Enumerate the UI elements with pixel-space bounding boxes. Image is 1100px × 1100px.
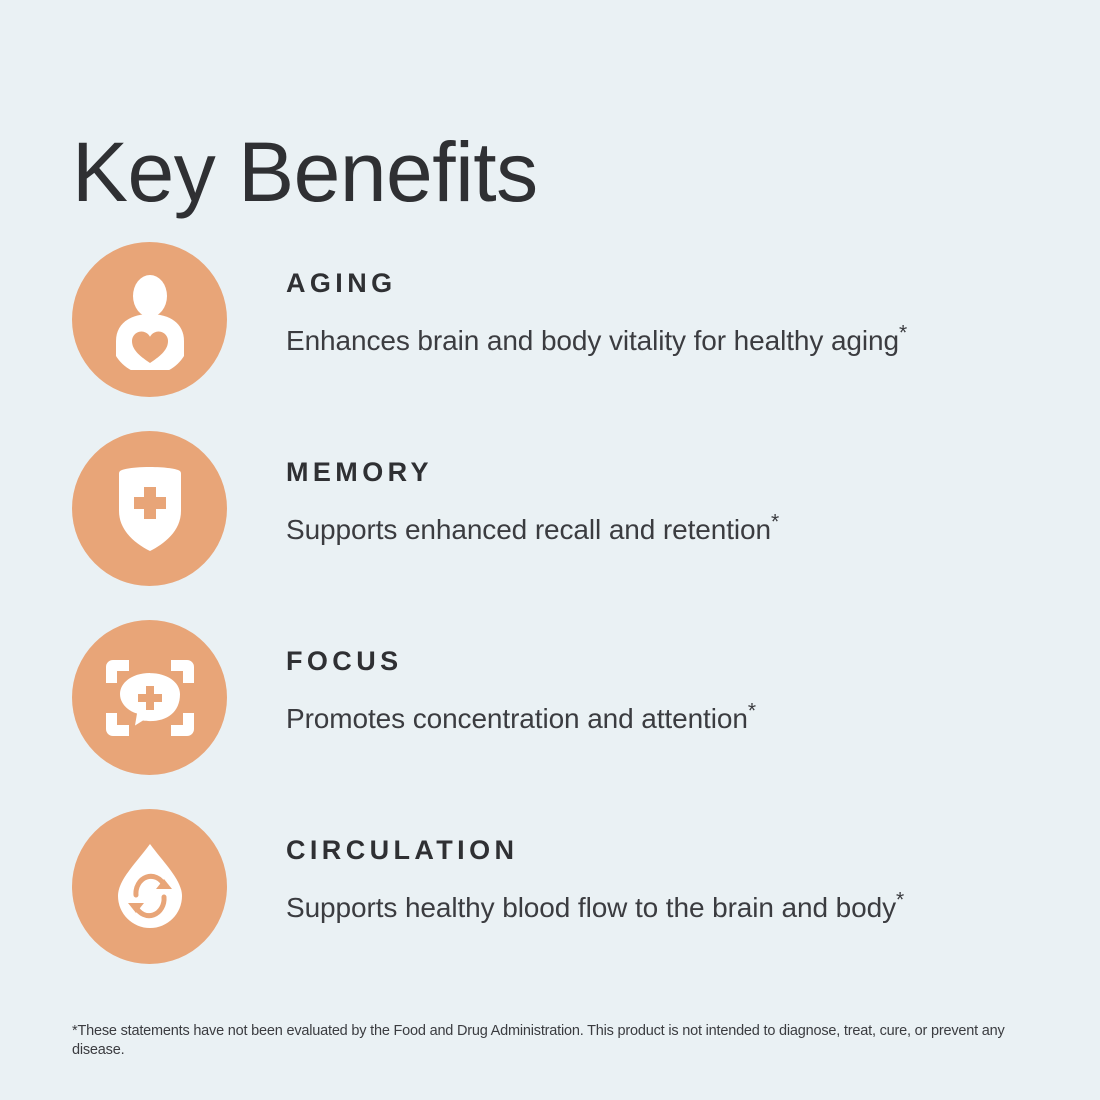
shield-plus-icon xyxy=(72,431,227,586)
footnote-marker: * xyxy=(771,511,779,534)
footnote-marker: * xyxy=(748,700,756,723)
benefit-text-focus: FOCUS Promotes concentration and attenti… xyxy=(286,648,1046,736)
benefit-description: Promotes concentration and attention* xyxy=(286,701,1046,736)
key-benefits-page: Key Benefits AGING Enhances brain xyxy=(0,0,1100,1100)
benefits-list: AGING Enhances brain and body vitality f… xyxy=(0,242,1100,998)
footnote-marker: * xyxy=(896,889,904,912)
benefit-text-circulation: CIRCULATION Supports healthy blood flow … xyxy=(286,837,1046,925)
benefit-item-focus: FOCUS Promotes concentration and attenti… xyxy=(0,620,1100,809)
benefit-description: Enhances brain and body vitality for hea… xyxy=(286,323,1046,358)
benefit-item-aging: AGING Enhances brain and body vitality f… xyxy=(0,242,1100,431)
benefit-heading: AGING xyxy=(286,270,1046,297)
benefit-heading: CIRCULATION xyxy=(286,837,1046,864)
fda-disclaimer-footnote: *These statements have not been evaluate… xyxy=(72,1022,1007,1060)
brain-focus-bracket-icon xyxy=(72,620,227,775)
benefit-text-aging: AGING Enhances brain and body vitality f… xyxy=(286,270,1046,358)
benefit-text-memory: MEMORY Supports enhanced recall and rete… xyxy=(286,459,1046,547)
benefit-heading: MEMORY xyxy=(286,459,1046,486)
benefit-item-memory: MEMORY Supports enhanced recall and rete… xyxy=(0,431,1100,620)
benefit-heading: FOCUS xyxy=(286,648,1046,675)
benefit-description: Supports healthy blood flow to the brain… xyxy=(286,890,1046,925)
benefit-item-circulation: CIRCULATION Supports healthy blood flow … xyxy=(0,809,1100,998)
footnote-marker: * xyxy=(899,322,907,345)
person-heart-icon xyxy=(72,242,227,397)
page-title: Key Benefits xyxy=(72,130,538,214)
benefit-description: Supports enhanced recall and retention* xyxy=(286,512,1046,547)
droplet-circulation-arrows-icon xyxy=(72,809,227,964)
